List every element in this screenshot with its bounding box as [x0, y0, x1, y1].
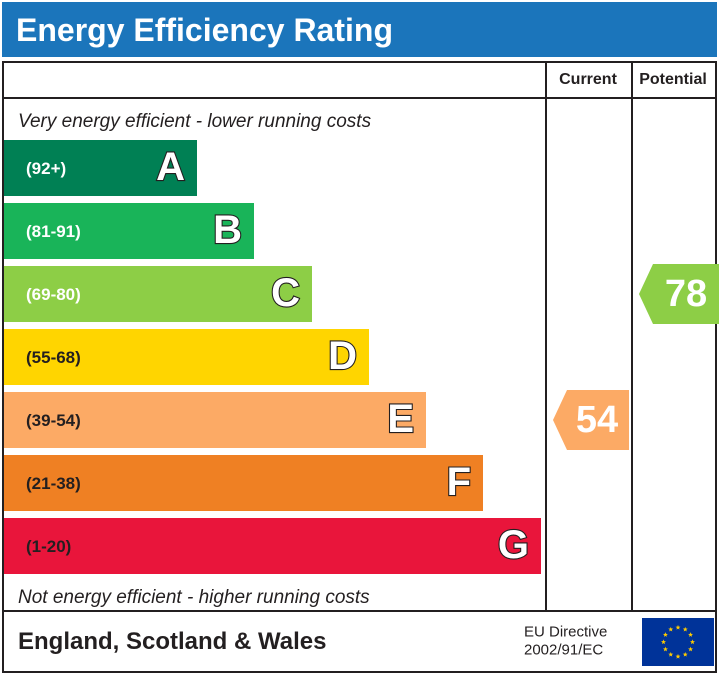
band-range-b: (81-91) — [4, 223, 81, 240]
eu-flag-icon — [642, 618, 714, 666]
rating-table: Current Potential Very energy efficient … — [2, 61, 717, 612]
chart-title-bar: Energy Efficiency Rating — [2, 2, 717, 57]
band-range-e: (39-54) — [4, 412, 81, 429]
eu-directive-label: EU Directive 2002/91/EC — [524, 623, 607, 661]
region-label: England, Scotland & Wales — [4, 628, 326, 656]
band-letter-c: C — [271, 273, 300, 313]
column-header-potential: Potential — [631, 63, 715, 97]
chart-footer: England, Scotland & Wales EU Directive 2… — [2, 612, 717, 673]
potential-rating-value: 78 — [653, 275, 707, 313]
band-e: (39-54)E — [4, 392, 426, 448]
eu-directive-line1: EU Directive — [524, 623, 607, 642]
band-range-a: (92+) — [4, 160, 66, 177]
band-letter-g: G — [498, 525, 529, 565]
column-header-current: Current — [545, 63, 631, 97]
band-letter-f: F — [447, 462, 471, 502]
efficiency-scale: Very energy efficient - lower running co… — [4, 99, 545, 610]
potential-rating-marker: 78 — [639, 264, 719, 324]
band-letter-b: B — [213, 210, 242, 250]
band-a: (92+)A — [4, 140, 197, 196]
band-range-f: (21-38) — [4, 475, 81, 492]
band-c: (69-80)C — [4, 266, 312, 322]
caption-efficient: Very energy efficient - lower running co… — [18, 111, 371, 133]
column-divider-current — [545, 63, 547, 610]
band-letter-e: E — [387, 399, 414, 439]
column-divider-potential — [631, 63, 633, 610]
current-rating-value: 54 — [564, 401, 618, 439]
eu-directive-line2: 2002/91/EC — [524, 642, 607, 661]
band-g: (1-20)G — [4, 518, 541, 574]
column-header-row: Current Potential — [4, 63, 715, 99]
band-letter-d: D — [328, 336, 357, 376]
band-range-g: (1-20) — [4, 538, 71, 555]
band-range-d: (55-68) — [4, 349, 81, 366]
caption-inefficient: Not energy efficient - higher running co… — [18, 587, 370, 609]
band-range-c: (69-80) — [4, 286, 81, 303]
current-rating-marker: 54 — [553, 390, 629, 450]
band-d: (55-68)D — [4, 329, 369, 385]
band-b: (81-91)B — [4, 203, 254, 259]
band-f: (21-38)F — [4, 455, 483, 511]
band-list: (92+)A(81-91)B(69-80)C(55-68)D(39-54)E(2… — [4, 140, 545, 584]
page-title: Energy Efficiency Rating — [2, 14, 393, 46]
band-letter-a: A — [156, 147, 185, 187]
energy-efficiency-rating-chart: Energy Efficiency Rating Current Potenti… — [0, 0, 719, 675]
